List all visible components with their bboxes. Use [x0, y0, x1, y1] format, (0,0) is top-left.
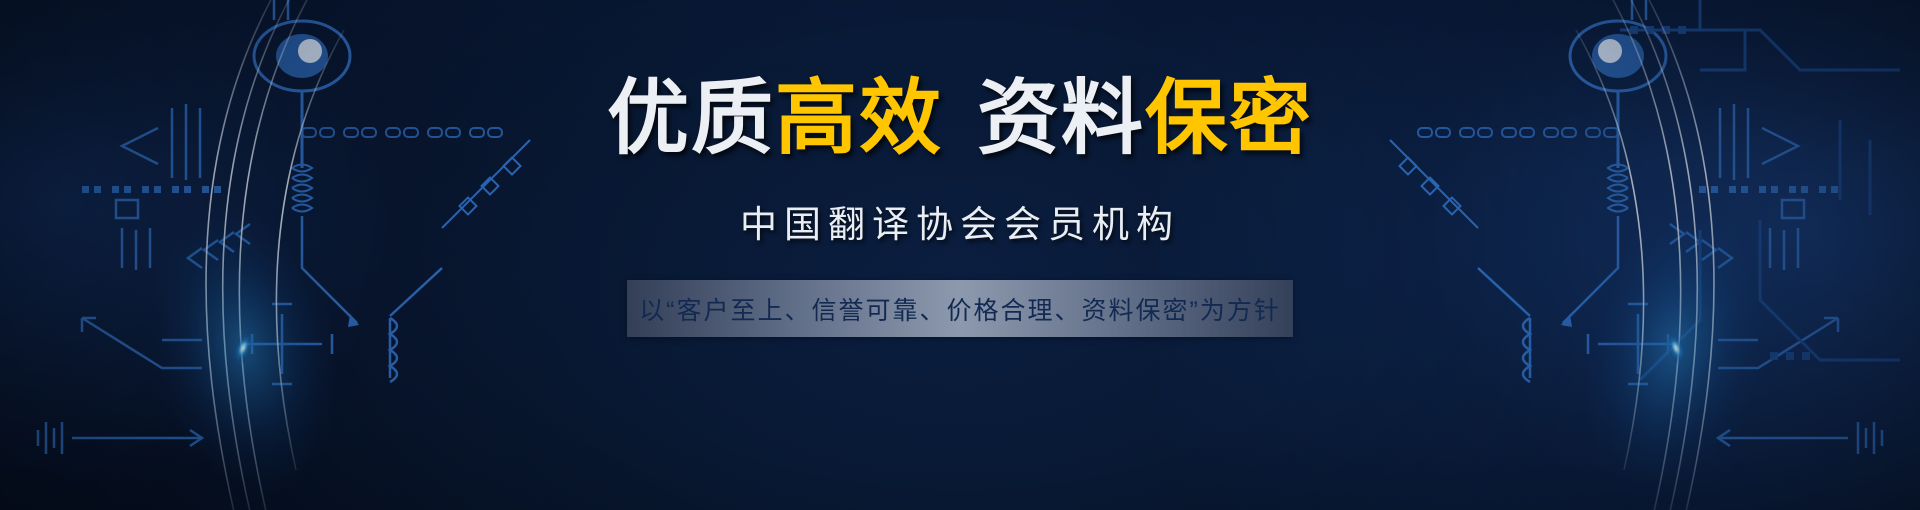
hero-banner: 优质高效资料保密 中国翻译协会会员机构 以“客户至上、信誉可靠、价格合理、资料保… [0, 0, 1920, 510]
tagline-bar: 以“客户至上、信誉可靠、价格合理、资料保密”为方针 [627, 280, 1293, 337]
banner-content: 优质高效资料保密 中国翻译协会会员机构 以“客户至上、信誉可靠、价格合理、资料保… [0, 0, 1920, 510]
subtitle: 中国翻译协会会员机构 [740, 194, 1180, 248]
headline: 优质高效资料保密 [607, 78, 1313, 160]
headline-segment-2: 高效 [775, 73, 943, 164]
headline-segment-4: 保密 [1145, 73, 1313, 164]
tagline-text: 以“客户至上、信誉可靠、价格合理、资料保密”为方针 [639, 291, 1281, 327]
headline-segment-1: 优质 [607, 73, 775, 164]
headline-segment-3: 资料 [977, 73, 1145, 164]
